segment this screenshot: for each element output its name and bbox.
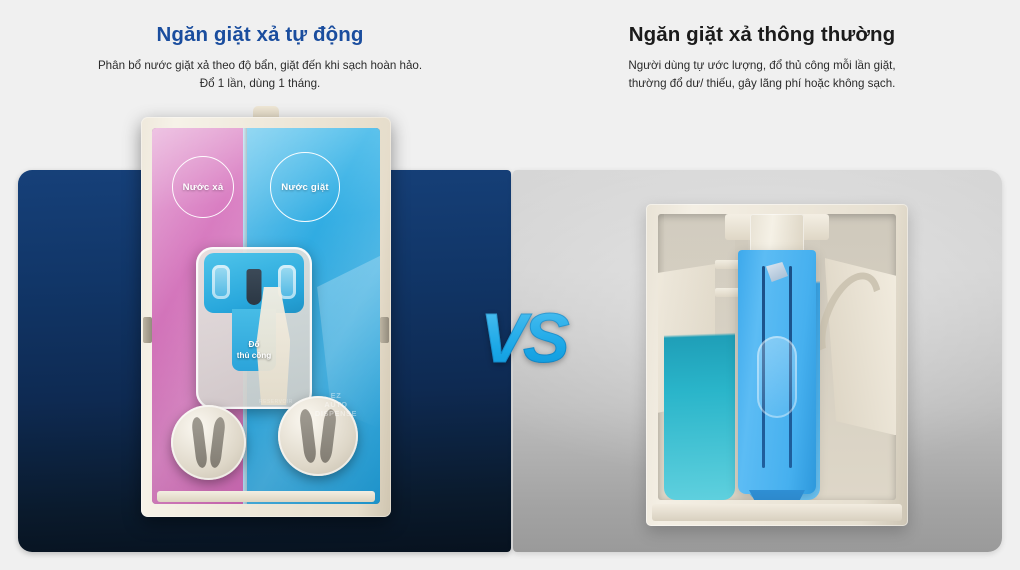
right-heading-block: Ngăn giặt xả thông thường Người dùng tự … bbox=[512, 22, 1012, 94]
softener-slot-teal bbox=[664, 214, 735, 500]
detergent-label-text: Nước giặt bbox=[281, 182, 329, 193]
tray-spout-icon bbox=[247, 269, 262, 305]
conventional-frame bbox=[646, 204, 908, 526]
right-subtitle: Người dùng tự ước lượng, đổ thủ công mỗi… bbox=[512, 57, 1012, 95]
bottle-neck bbox=[750, 214, 804, 254]
manual-pour-tray: Đổ thủ công bbox=[196, 247, 312, 409]
drawer-clip-right bbox=[380, 317, 389, 343]
drawer-clip-left bbox=[143, 317, 152, 343]
manual-pour-line1: Đổ bbox=[196, 339, 312, 350]
left-subtitle-line2: Đổ 1 lần, dùng 1 tháng. bbox=[10, 75, 510, 94]
left-subtitle: Phân bổ nước giặt xả theo độ bẩn, giặt đ… bbox=[10, 57, 510, 95]
left-title: Ngăn giặt xả tự động bbox=[10, 22, 510, 48]
bottle-level-window bbox=[757, 336, 797, 418]
right-subtitle-line1: Người dùng tự ước lượng, đổ thủ công mỗi… bbox=[512, 57, 1012, 76]
empty-slot bbox=[828, 214, 890, 500]
auto-dispense-watermark: EZ AUTO DISPENSE bbox=[300, 391, 372, 418]
reservoir-micro-text: RESERVOIR bbox=[259, 399, 293, 405]
softener-ring-label: Nước xả bbox=[172, 156, 234, 218]
left-heading-block: Ngăn giặt xả tự động Phân bổ nước giặt x… bbox=[10, 22, 510, 94]
conventional-cavity bbox=[658, 214, 896, 500]
vs-badge: VS bbox=[473, 296, 573, 380]
drawer-front-lip bbox=[157, 491, 375, 502]
comparison-stage: Ngăn giặt xả tự động Phân bổ nước giặt x… bbox=[0, 0, 1020, 570]
tray-arm-left bbox=[212, 265, 230, 299]
left-subtitle-line1: Phân bổ nước giặt xả theo độ bẩn, giặt đ… bbox=[10, 57, 510, 76]
bottle-pour-stream bbox=[749, 490, 805, 500]
cap-slot bbox=[190, 417, 207, 469]
softener-cap[interactable] bbox=[171, 405, 246, 480]
bottle-body bbox=[738, 250, 816, 494]
softener-label-text: Nước xả bbox=[183, 182, 224, 193]
drawer-shell: Nước xả Nước giặt Đổ thủ công bbox=[141, 117, 391, 517]
manual-pour-line2: thủ công bbox=[196, 350, 312, 361]
conventional-dispenser bbox=[646, 176, 908, 526]
cap-slot bbox=[209, 417, 226, 469]
detergent-bottle bbox=[735, 214, 819, 500]
watermark-line1: EZ bbox=[300, 391, 372, 400]
right-subtitle-line2: thường đổ dư/ thiếu, gây lãng phí hoặc k… bbox=[512, 75, 1012, 94]
drawer-interior: Nước xả Nước giặt Đổ thủ công bbox=[152, 128, 380, 504]
detergent-ring-label: Nước giặt bbox=[270, 152, 340, 222]
conventional-base bbox=[652, 504, 902, 521]
watermark-line2: AUTO bbox=[300, 400, 372, 409]
auto-dispense-drawer: Nước xả Nước giặt Đổ thủ công bbox=[141, 106, 391, 518]
right-title: Ngăn giặt xả thông thường bbox=[512, 22, 1012, 48]
watermark-line3: DISPENSE bbox=[300, 409, 372, 418]
manual-pour-label: Đổ thủ công bbox=[196, 339, 312, 361]
